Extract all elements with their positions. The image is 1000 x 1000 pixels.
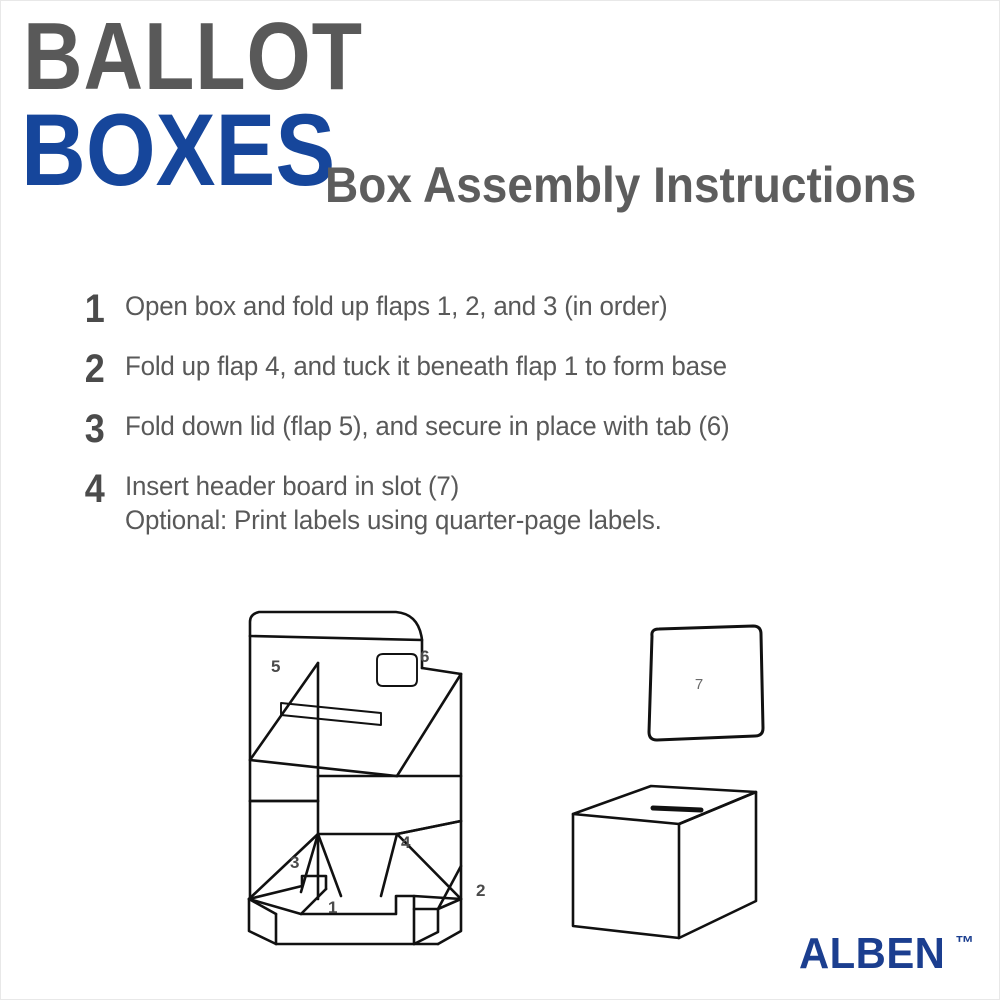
step-number: 1	[13, 289, 121, 329]
page-title-line-boxes: BOXES	[21, 99, 335, 201]
header-board-lines	[649, 626, 763, 740]
step-text-block: Fold down lid (flap 5), and secure in pl…	[121, 409, 1000, 443]
assembly-diagrams: 5 6 3 1 4 2 7	[1, 596, 1000, 946]
page-subtitle: Box Assembly Instructions	[325, 156, 916, 214]
diagram-label-tab-6: 6	[420, 647, 429, 666]
assembled-box-slot	[653, 808, 701, 810]
diagram-label-header-board-7: 7	[695, 676, 703, 693]
step-text-block: Insert header board in slot (7) Optional…	[121, 469, 1000, 537]
diagram-label-flap-5: 5	[271, 657, 280, 676]
diagram-label-flap-4: 4	[401, 833, 411, 852]
step-number: 3	[13, 409, 121, 449]
step-number: 4	[13, 469, 121, 509]
step-text-line: Fold up flap 4, and tuck it beneath flap…	[125, 349, 966, 383]
masthead: BALLOT BOXES Box Assembly Instructions	[1, 1, 1000, 241]
step-text-line-optional: Optional: Print labels using quarter-pag…	[125, 503, 966, 537]
tab-6-outline	[377, 654, 417, 686]
diagram-svg: 5 6 3 1 4 2 7	[1, 596, 1000, 946]
instruction-steps-list: 1 Open box and fold up flaps 1, 2, and 3…	[1, 289, 1000, 557]
instruction-sheet-page: BALLOT BOXES Box Assembly Instructions 1…	[0, 0, 1000, 1000]
diagram-label-flap-3: 3	[290, 853, 299, 872]
alben-logo: ALBEN ™	[799, 931, 974, 977]
trademark-symbol: ™	[955, 934, 974, 954]
step-text-block: Fold up flap 4, and tuck it beneath flap…	[121, 349, 1000, 383]
instruction-step: 4 Insert header board in slot (7) Option…	[1, 469, 1000, 537]
logo-wordmark: ALBEN	[799, 931, 945, 977]
diagram-label-flap-1: 1	[328, 898, 337, 917]
diagram-label-flap-2: 2	[476, 881, 485, 900]
step-text-block: Open box and fold up flaps 1, 2, and 3 (…	[121, 289, 1000, 323]
instruction-step: 2 Fold up flap 4, and tuck it beneath fl…	[1, 349, 1000, 389]
page-title-line-ballot: BALLOT	[23, 9, 363, 105]
step-number: 2	[13, 349, 121, 389]
step-text-line: Insert header board in slot (7)	[125, 469, 966, 503]
step-text-line: Fold down lid (flap 5), and secure in pl…	[125, 409, 966, 443]
instruction-step: 1 Open box and fold up flaps 1, 2, and 3…	[1, 289, 1000, 329]
step-text-line: Open box and fold up flaps 1, 2, and 3 (…	[125, 289, 966, 323]
ballot-slot-outline	[281, 703, 381, 725]
instruction-step: 3 Fold down lid (flap 5), and secure in …	[1, 409, 1000, 449]
